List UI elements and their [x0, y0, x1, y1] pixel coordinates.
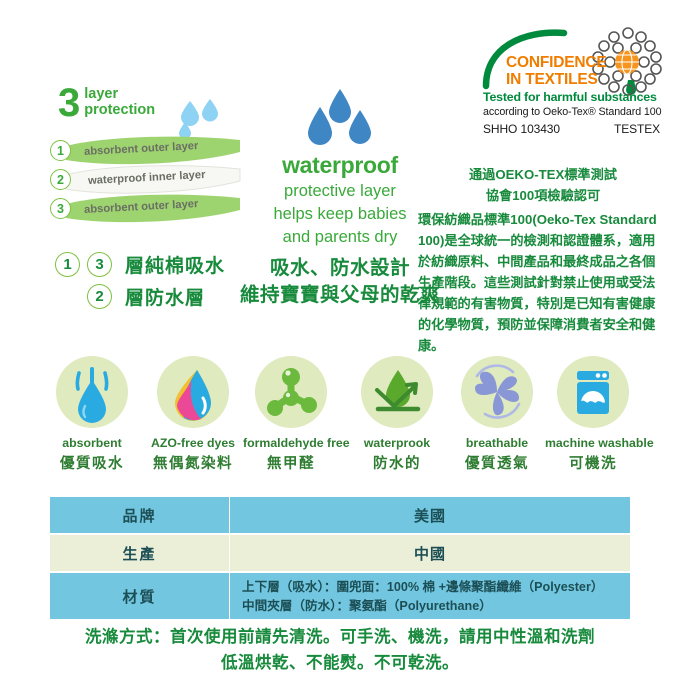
layer-title-line1: layer [84, 87, 155, 103]
layer-number-badge: 1 [50, 140, 71, 161]
table-row: 生產 中國 [50, 535, 630, 571]
feature-label-en: formaldehyde free [243, 436, 339, 450]
waterproof-title: waterproof [236, 152, 444, 179]
table-row: 品牌 美國 [50, 497, 630, 533]
feature-label-cn: 無甲醛 [243, 452, 339, 473]
oeko-tested-text: Tested for harmful substances [483, 90, 657, 104]
material-line1: 上下層（吸水）：圍兜面：100% 棉 +邊條聚酯纖維（Polyester） [242, 578, 630, 597]
oeko-confidence-line1: CONFIDENCE [506, 55, 606, 72]
oeko-description-chinese: 通過OEKO-TEX標準測試 協會100項檢驗認可 環保紡織品標準100(Oek… [418, 164, 668, 356]
feature-label-en: AZO-free dyes [145, 436, 241, 450]
layer-summary-text: 層純棉吸水 [125, 251, 225, 278]
feature-formaldehyde-free: formaldehyde free 無甲醛 [243, 356, 339, 473]
oeko-cn-center-line2: 協會100項檢驗認可 [418, 185, 668, 206]
wash-instructions: 洗滌方式：首次使用前請先清洗。可手洗、機洗，請用中性溫和洗劑 低溫烘乾、不能熨。… [0, 624, 680, 676]
table-row: 材質 上下層（吸水）：圍兜面：100% 棉 +邊條聚酯纖維（Polyester）… [50, 573, 630, 619]
oeko-confidence-text: CONFIDENCE IN TEXTILES [506, 55, 606, 88]
table-row-value: 美國 [230, 497, 630, 533]
waterproof-drops-icon [236, 88, 444, 150]
feature-label-en: breathable [449, 436, 545, 450]
feature-icon-row: absorbent 優質吸水 AZO-free dyes 無偶氮染料 [0, 356, 680, 481]
layer-summary-number-a: 1 [55, 252, 80, 277]
feature-label-en: machine washable [545, 436, 641, 450]
layer-heading: 3 layer protection [58, 86, 155, 120]
material-line2: 中間夾層（防水）：聚氨酯（Polyurethane） [242, 597, 630, 616]
water-drop-absorbent-icon [56, 356, 128, 428]
oeko-tex-logo: CONFIDENCE IN TEXTILES Tested for harmfu… [478, 24, 663, 140]
molecule-formaldehyde-icon [255, 356, 327, 428]
feature-label-cn: 無偶氮染料 [145, 452, 241, 473]
top-section: 3 layer protection 1 [0, 0, 680, 350]
layer-row: 3 absorbent outer layer [50, 192, 250, 230]
oeko-certificate-code: SHHO 103430 [483, 122, 560, 136]
waterproof-sub-line3: and parents dry [236, 227, 444, 248]
azo-free-dye-drop-icon [157, 356, 229, 428]
three-layer-protection-block: 3 layer protection 1 [50, 86, 250, 246]
layer-summary-text: 層防水層 [125, 283, 205, 310]
feature-label-cn: 可機洗 [545, 452, 641, 473]
waterproof-cn-line2: 維持寶寶與父母的乾爽 [236, 282, 444, 309]
layer-summary-spacer [55, 284, 80, 309]
waterproof-block: waterproof protective layer helps keep b… [236, 88, 444, 309]
table-row-value-material: 上下層（吸水）：圍兜面：100% 棉 +邊條聚酯纖維（Polyester） 中間… [230, 573, 630, 619]
layer-number-badge: 3 [50, 198, 71, 219]
product-info-page: 3 layer protection 1 [0, 0, 680, 680]
layer-count-number: 3 [58, 86, 79, 120]
layer-summary-number-b: 3 [87, 252, 112, 277]
fan-breathable-icon [461, 356, 533, 428]
washing-machine-icon [557, 356, 629, 428]
table-row-label: 生產 [50, 535, 230, 571]
feature-waterproof: waterprook 防水的 [349, 356, 445, 473]
layer-number-badge: 2 [50, 169, 71, 190]
feature-label-cn: 優質吸水 [44, 452, 140, 473]
wash-line1: 洗滌方式：首次使用前請先清洗。可手洗、機洗，請用中性溫和洗劑 [0, 624, 680, 650]
oeko-standard-text: according to Oeko-Tex® Standard 100 [483, 106, 661, 118]
water-drops-decoration [172, 98, 222, 138]
waterproof-sub-line1: protective layer [236, 181, 444, 202]
feature-breathable: breathable 優質透氣 [449, 356, 545, 473]
feature-label-cn: 防水的 [349, 452, 445, 473]
table-row-label: 品牌 [50, 497, 230, 533]
table-row-value: 中國 [230, 535, 630, 571]
waterproof-sub-line2: helps keep babies [236, 204, 444, 225]
feature-absorbent: absorbent 優質吸水 [44, 356, 140, 473]
waterproof-cn-line1: 吸水、防水設計 [236, 255, 444, 282]
oeko-confidence-line2: IN TEXTILES [506, 72, 606, 89]
oeko-cn-paragraph: 環保紡織品標準100(Oeko-Tex Standard 100)是全球統一的檢… [418, 209, 668, 356]
layer-title-line2: protection [84, 103, 155, 119]
oeko-institute-name: TESTEX [614, 122, 660, 136]
table-row-label: 材質 [50, 573, 230, 619]
feature-label-en: waterprook [349, 436, 445, 450]
wash-line2: 低溫烘乾、不能熨。不可乾洗。 [0, 650, 680, 676]
oeko-cn-center-line1: 通過OEKO-TEX標準測試 [418, 164, 668, 185]
feature-label-en: absorbent [44, 436, 140, 450]
layer-summary-number-b: 2 [87, 284, 112, 309]
feature-azo-free: AZO-free dyes 無偶氮染料 [145, 356, 241, 473]
spec-table: 品牌 美國 生產 中國 材質 上下層（吸水）：圍兜面：100% 棉 +邊條聚酯纖… [50, 497, 630, 619]
feature-label-cn: 優質透氣 [449, 452, 545, 473]
feature-machine-washable: machine washable 可機洗 [545, 356, 641, 473]
waterproof-repel-icon [361, 356, 433, 428]
